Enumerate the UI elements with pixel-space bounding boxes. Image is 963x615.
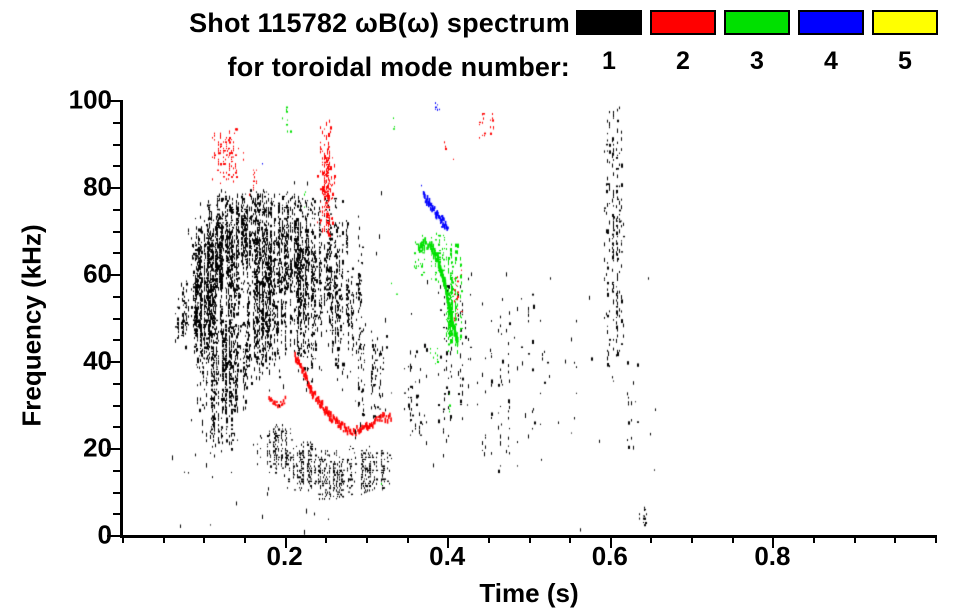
y-tick xyxy=(113,296,122,298)
x-tick-label: 0.2 xyxy=(267,541,303,572)
legend-item-2: 2 xyxy=(650,10,716,76)
x-tick xyxy=(650,535,652,543)
x-tick xyxy=(244,535,246,543)
legend-label-1: 1 xyxy=(576,47,642,76)
x-tick xyxy=(163,535,165,543)
x-tick xyxy=(732,535,734,543)
figure-title-line1-text: Shot 115782 ωB(ω) spectrum xyxy=(189,8,570,38)
y-tick-label: 100 xyxy=(69,85,112,116)
y-tick xyxy=(113,252,122,254)
legend: 12345 xyxy=(576,10,956,90)
x-tick xyxy=(488,535,490,543)
x-tick xyxy=(325,535,327,543)
y-tick xyxy=(113,339,122,341)
x-tick xyxy=(935,535,937,543)
legend-label-2: 2 xyxy=(650,47,716,76)
y-tick xyxy=(113,513,122,515)
x-tick xyxy=(203,535,205,543)
x-tick-label: 0.8 xyxy=(754,541,790,572)
y-tick-label: 80 xyxy=(83,172,112,203)
spectrogram-figure: Shot 115782 ωB(ω) spectrum for toroidal … xyxy=(0,0,963,615)
x-tick xyxy=(813,535,815,543)
y-tick-label: 0 xyxy=(98,520,112,551)
x-tick xyxy=(407,535,409,543)
x-axis-title: Time (s) xyxy=(122,578,936,609)
x-tick-label: 0.4 xyxy=(429,541,465,572)
y-tick xyxy=(113,231,122,233)
y-axis-title: Frequency (kHz) xyxy=(17,206,48,446)
y-tick xyxy=(113,318,122,320)
y-tick xyxy=(113,122,122,124)
legend-swatch-icon-4 xyxy=(798,10,864,35)
y-tick xyxy=(113,209,122,211)
legend-swatch-icon-2 xyxy=(650,10,716,35)
legend-label-5: 5 xyxy=(872,47,938,76)
y-tick-label: 60 xyxy=(83,259,112,290)
y-tick-label: 40 xyxy=(83,346,112,377)
legend-swatch-icon-1 xyxy=(576,10,642,35)
y-tick xyxy=(113,144,122,146)
x-tick-label: 0.6 xyxy=(592,541,628,572)
legend-swatch-icon-3 xyxy=(724,10,790,35)
figure-title-line2-text: for toroidal mode number: xyxy=(228,52,571,82)
y-tick xyxy=(113,383,122,385)
plot-area xyxy=(122,100,935,535)
y-tick xyxy=(113,165,122,167)
y-tick xyxy=(113,470,122,472)
x-tick xyxy=(529,535,531,543)
legend-item-5: 5 xyxy=(872,10,938,76)
y-tick xyxy=(113,405,122,407)
legend-item-3: 3 xyxy=(724,10,790,76)
legend-label-4: 4 xyxy=(798,47,864,76)
x-tick xyxy=(122,535,124,543)
spectrogram-canvas xyxy=(122,100,935,535)
x-tick xyxy=(569,535,571,543)
x-tick xyxy=(691,535,693,543)
legend-item-1: 1 xyxy=(576,10,642,76)
legend-item-4: 4 xyxy=(798,10,864,76)
x-tick xyxy=(366,535,368,543)
y-tick xyxy=(113,492,122,494)
y-tick-label: 20 xyxy=(83,433,112,464)
y-tick xyxy=(113,426,122,428)
x-tick xyxy=(854,535,856,543)
legend-swatch-icon-5 xyxy=(872,10,938,35)
legend-label-3: 3 xyxy=(724,47,790,76)
x-tick xyxy=(894,535,896,543)
